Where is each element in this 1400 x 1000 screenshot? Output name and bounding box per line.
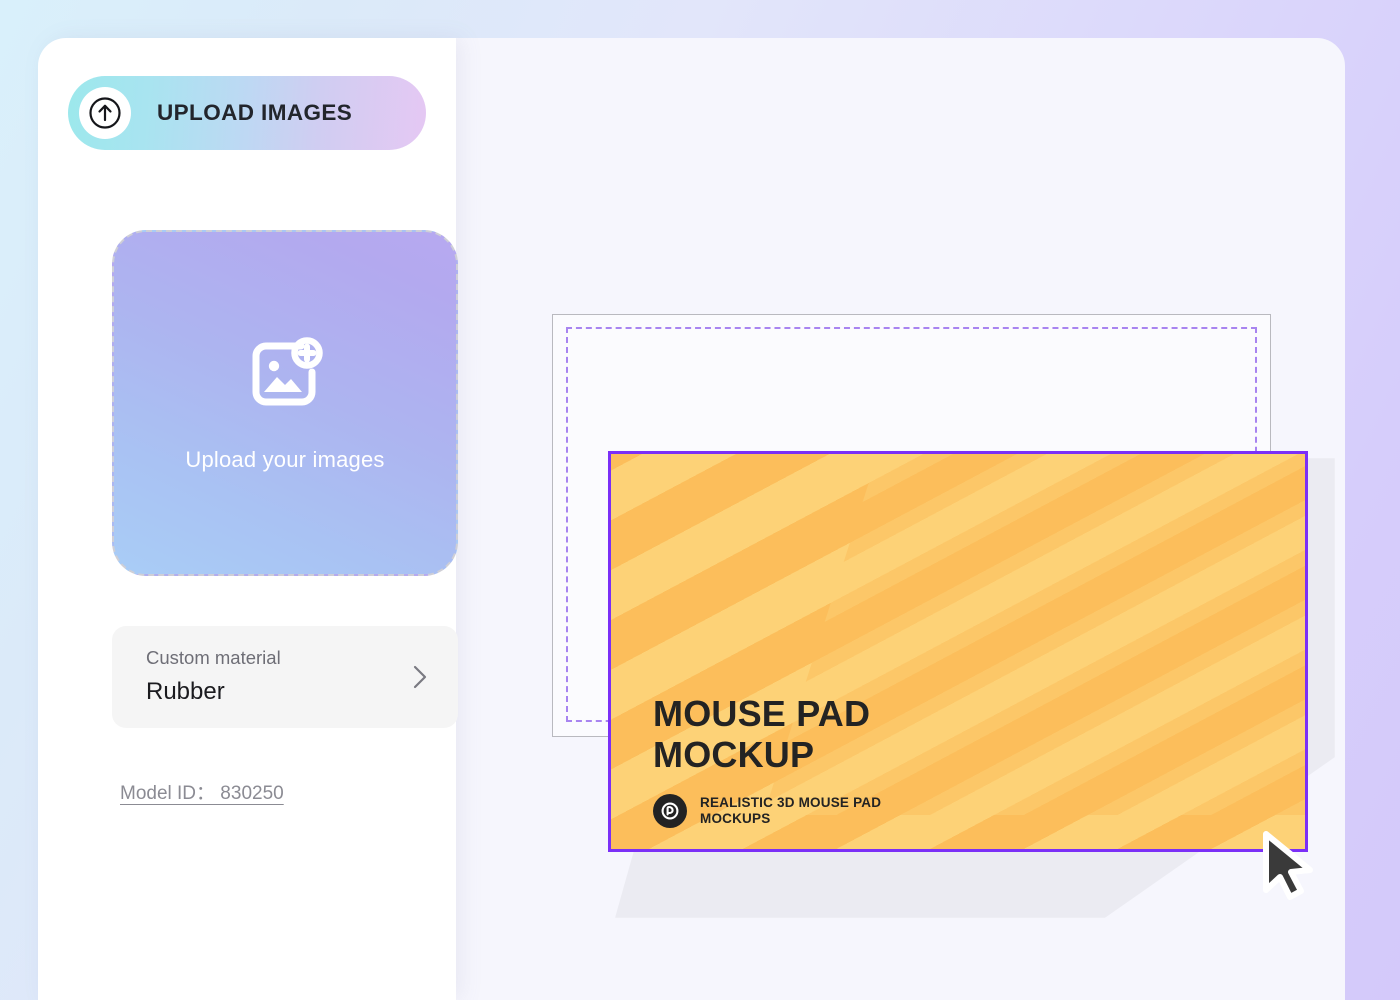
arrow-up-circle-icon bbox=[79, 87, 131, 139]
brand-logo-icon bbox=[653, 794, 687, 828]
mockup-design-selected[interactable]: MOUSE PAD MOCKUP REALISTIC 3D MOUSE PAD … bbox=[608, 451, 1308, 852]
custom-material-card[interactable]: Custom material Rubber bbox=[112, 626, 458, 728]
upload-images-label: UPLOAD IMAGES bbox=[157, 100, 352, 126]
dropzone-label: Upload your images bbox=[185, 447, 384, 473]
custom-material-label: Custom material bbox=[146, 647, 281, 669]
canvas-panel: MOUSE PAD MOCKUP REALISTIC 3D MOUSE PAD … bbox=[455, 38, 1345, 1000]
chevron-right-icon[interactable] bbox=[412, 664, 428, 695]
custom-material-value: Rubber bbox=[146, 678, 225, 706]
image-dropzone[interactable]: Upload your images bbox=[112, 230, 458, 576]
sidebar-panel: UPLOAD IMAGES Upload your images Custom … bbox=[38, 38, 456, 1000]
mockup-headline: MOUSE PAD MOCKUP bbox=[653, 694, 881, 775]
mouse-pointer-icon bbox=[1258, 828, 1320, 909]
mockup-text-block: MOUSE PAD MOCKUP REALISTIC 3D MOUSE PAD … bbox=[653, 694, 881, 828]
mockup-tagline: REALISTIC 3D MOUSE PAD MOCKUPS bbox=[700, 795, 881, 828]
mockup-badge: REALISTIC 3D MOUSE PAD MOCKUPS bbox=[653, 794, 881, 828]
add-image-icon bbox=[244, 334, 326, 421]
upload-images-button[interactable]: UPLOAD IMAGES bbox=[68, 76, 426, 150]
model-id-text[interactable]: Model ID： 830250 bbox=[120, 778, 284, 805]
